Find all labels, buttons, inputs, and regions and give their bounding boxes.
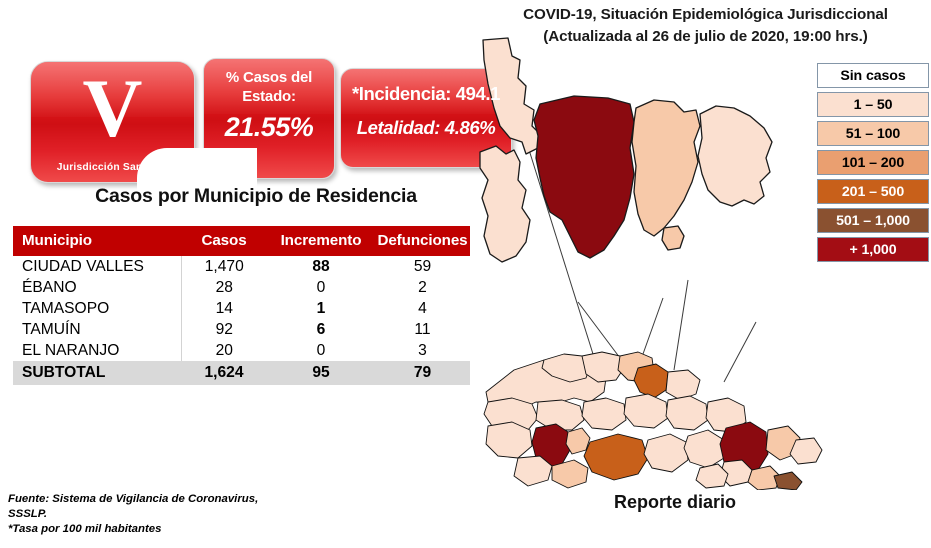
cell-incremento: 1: [267, 298, 375, 319]
map-container: [478, 30, 838, 490]
cell-casos: 28: [181, 277, 267, 298]
cell-defunciones: 11: [375, 319, 470, 340]
table-row: ÉBANO2802: [13, 277, 470, 298]
cell-incremento: 0: [267, 340, 375, 361]
column-header-incremento: Incremento: [267, 226, 375, 256]
state-region-rioverde: [584, 434, 648, 480]
municipality-tamuin: [632, 100, 700, 236]
cell-municipio: CIUDAD VALLES: [13, 256, 181, 277]
cell-total-casos: 1,624: [181, 361, 267, 385]
state-region-hs4-tamazunchale: [774, 472, 802, 490]
table-row: TAMASOPO1414: [13, 298, 470, 319]
jurisdiction-inset: [480, 38, 772, 262]
cell-casos: 14: [181, 298, 267, 319]
source-line-3: *Tasa por 100 mil habitantes: [8, 522, 338, 537]
cases-by-municipality-table: Municipio Casos Incremento Defunciones C…: [13, 226, 471, 385]
section-heading: Casos por Municipio de Residencia: [10, 185, 502, 208]
cell-defunciones: 4: [375, 298, 470, 319]
municipality-ciudad-valles: [534, 96, 634, 258]
cell-incremento: 6: [267, 319, 375, 340]
municipality-el-naranjo: [662, 226, 684, 250]
choropleth-map: [478, 30, 838, 490]
state-region-c4: [624, 394, 668, 428]
cell-municipio: ÉBANO: [13, 277, 181, 298]
cell-casos: 20: [181, 340, 267, 361]
percent-cases-value: 21.55%: [204, 112, 334, 143]
table-header-row: Municipio Casos Incremento Defunciones: [13, 226, 470, 256]
cell-municipio: TAMUÍN: [13, 319, 181, 340]
state-overview-map: [484, 352, 822, 490]
cell-municipio: EL NARANJO: [13, 340, 181, 361]
state-region-c2: [536, 400, 584, 430]
state-region-n4-moctezuma: [634, 364, 668, 398]
table-body: CIUDAD VALLES1,4708859ÉBANO2802TAMASOPO1…: [13, 256, 470, 385]
state-region-s1: [486, 422, 532, 458]
cell-incremento: 0: [267, 277, 375, 298]
cell-defunciones: 59: [375, 256, 470, 277]
column-header-defunciones: Defunciones: [375, 226, 470, 256]
percent-cases-label-line-1: % Casos del: [226, 69, 312, 86]
source-note: Fuente: Sistema de Vigilancia de Coronav…: [8, 492, 338, 537]
state-region-s5: [684, 430, 724, 468]
state-region-n5: [666, 370, 700, 400]
state-region-s4: [644, 434, 688, 472]
cell-casos: 92: [181, 319, 267, 340]
state-region-c3: [582, 398, 626, 430]
percent-cases-label: % Casos del Estado:: [204, 69, 334, 107]
cell-total-defunciones: 79: [375, 361, 470, 385]
cell-defunciones: 3: [375, 340, 470, 361]
state-region-ebano-small: [790, 438, 822, 464]
cell-total-incremento: 95: [267, 361, 375, 385]
incidence-value: *Incidencia: 494.1: [341, 83, 511, 105]
stats-banner: V Jurisdicción Sanitaria % Casos del Est…: [0, 55, 480, 183]
cell-incremento: 88: [267, 256, 375, 277]
column-header-municipio: Municipio: [13, 226, 181, 256]
state-region-c5: [666, 396, 708, 430]
page-title-line-1: COVID-19, Situación Epidemiológica Juris…: [480, 4, 931, 26]
table-total-row: SUBTOTAL1,6249579: [13, 361, 470, 385]
cell-total-municipio: SUBTOTAL: [13, 361, 181, 385]
logo-letter: V: [31, 64, 194, 154]
table-row: EL NARANJO2003: [13, 340, 470, 361]
municipality-ebano: [698, 106, 772, 206]
source-line-1: Fuente: Sistema de Vigilancia de Coronav…: [8, 492, 338, 507]
source-line-2: SSSLP.: [8, 507, 338, 522]
table-row: CIUDAD VALLES1,4708859: [13, 256, 470, 277]
percent-cases-label-line-2: Estado:: [242, 88, 296, 105]
lethality-value: Letalidad: 4.86%: [341, 117, 511, 139]
cell-defunciones: 2: [375, 277, 470, 298]
cell-casos: 1,470: [181, 256, 267, 277]
cell-municipio: TAMASOPO: [13, 298, 181, 319]
column-header-casos: Casos: [181, 226, 267, 256]
report-footer-label: Reporte diario: [560, 492, 790, 513]
state-region-s3: [552, 460, 588, 488]
table-row: TAMUÍN92611: [13, 319, 470, 340]
